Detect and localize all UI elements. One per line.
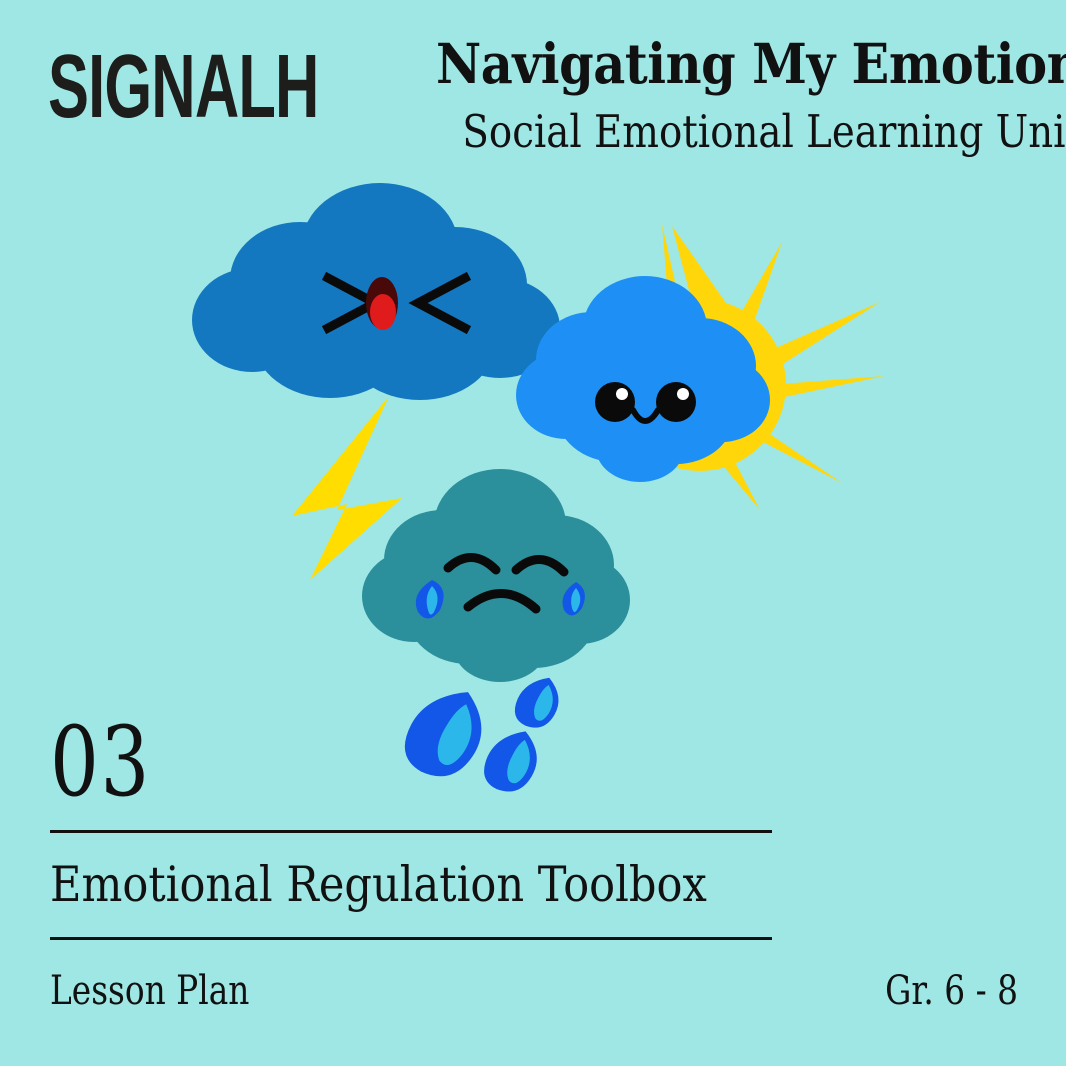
emotion-clouds-illustration [0,180,1066,830]
divider-bottom [50,937,772,940]
angry-cloud-icon [192,183,560,400]
signalhill-logo-text: SIGNALHILL [48,36,318,124]
lesson-title: Emotional Regulation Toolbox [50,852,701,918]
lesson-cover: SIGNALHILL Navigating My Emotions Social… [0,0,1066,1066]
unit-subtitle: Social Emotional Learning Unit [462,106,1030,158]
unit-title: Navigating My Emotions [436,34,1030,94]
resource-type-label: Lesson Plan [50,966,249,1016]
sad-cloud-icon [362,469,630,682]
grade-range-label: Gr. 6 - 8 [885,966,1018,1016]
raindrops-icon [397,671,564,797]
header-block: Navigating My Emotions Social Emotional … [370,34,1030,158]
signalhill-logo: SIGNALHILL [48,34,318,124]
divider-top [50,830,772,833]
lesson-number: 03 [50,714,151,810]
